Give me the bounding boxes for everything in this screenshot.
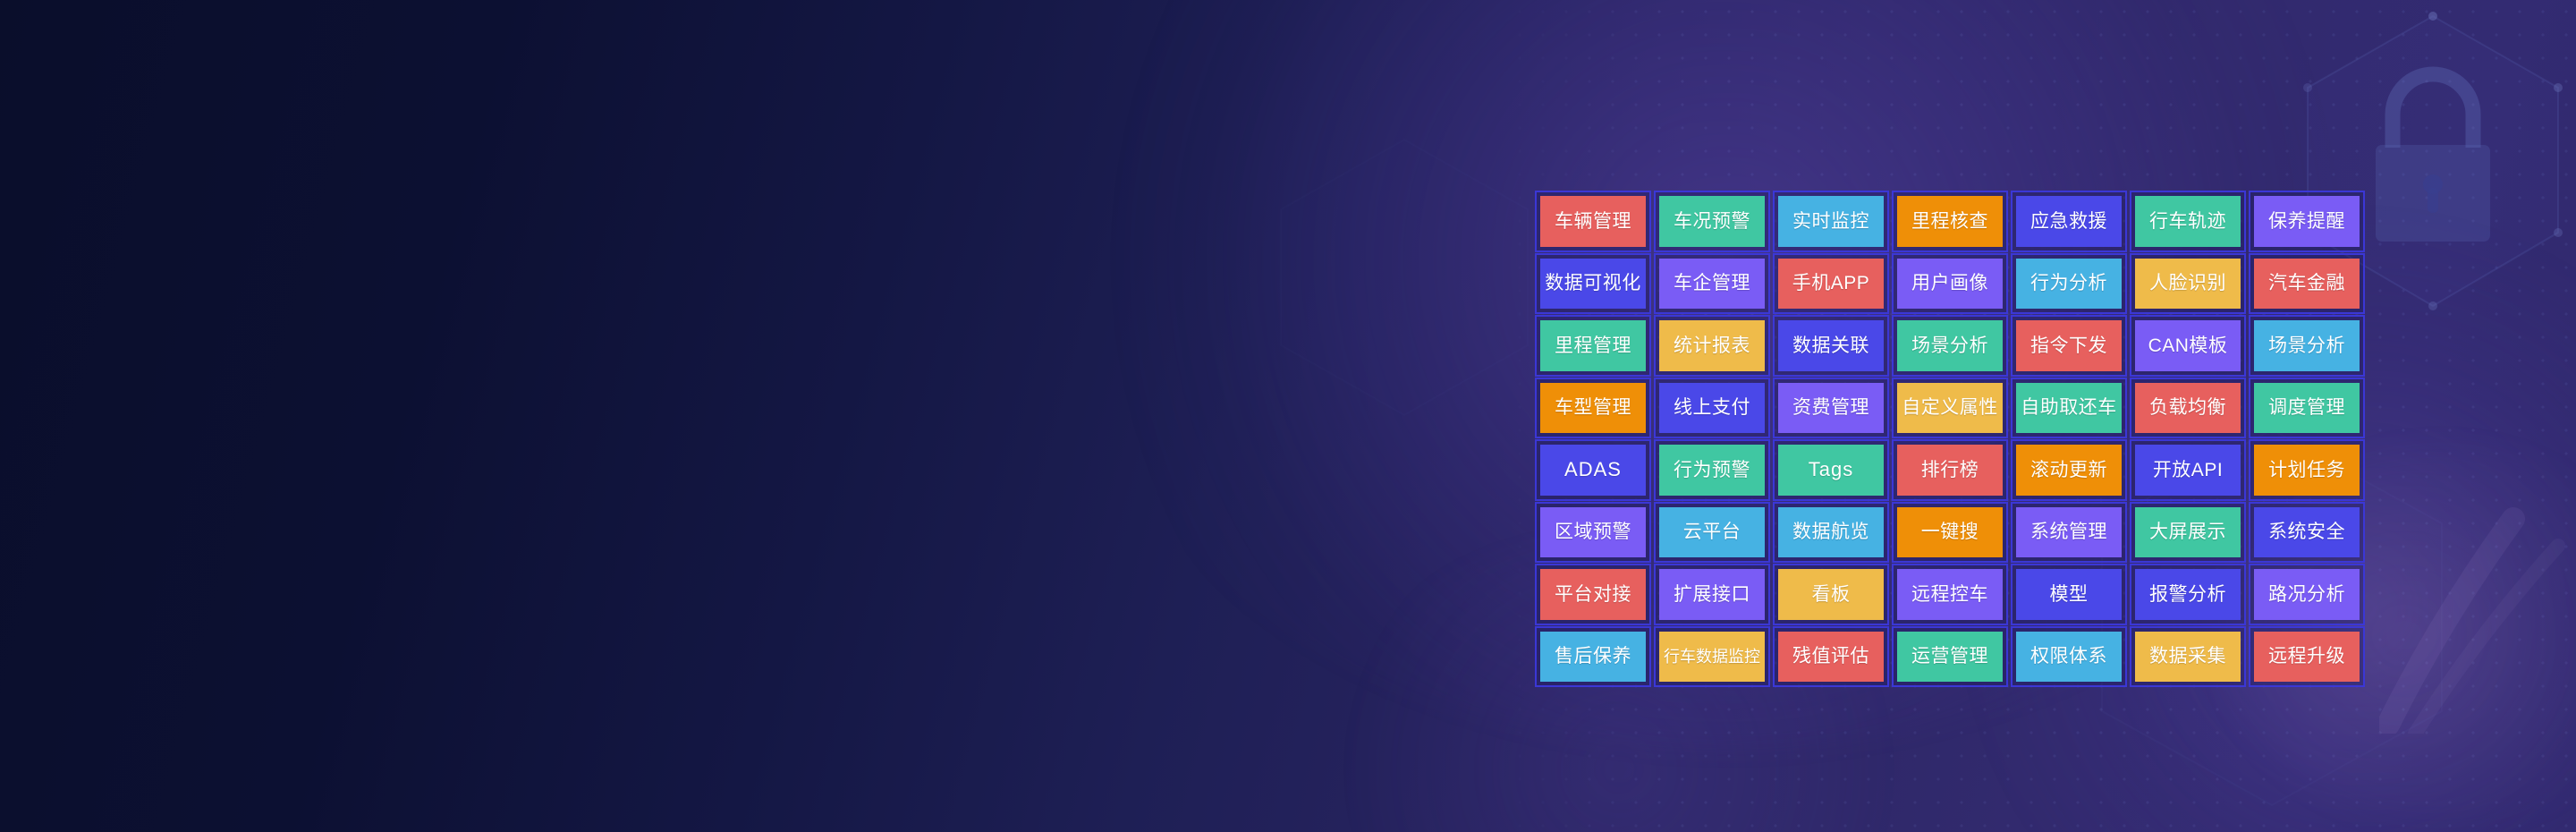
feature-tag-fill: 车型管理 [1540,383,1646,434]
feature-tag-label: 模型 [2050,585,2089,604]
feature-tag-label: 车型管理 [1555,398,1631,417]
feature-tag[interactable]: 车况预警 [1654,191,1770,252]
feature-tag[interactable]: 路况分析 [2249,564,2365,625]
feature-tag-fill: 实时监控 [1778,196,1884,247]
feature-tag[interactable]: 权限体系 [2011,626,2127,688]
feature-tag[interactable]: 排行榜 [1892,439,2008,501]
feature-tag-label: 排行榜 [1921,461,1979,480]
feature-tag-fill: 大屏展示 [2135,507,2241,558]
feature-tag-label: 车企管理 [1674,274,1750,293]
feature-tag[interactable]: 模型 [2011,564,2127,625]
feature-tag-label: 扩展接口 [1674,585,1750,604]
feature-tag-label: 平台对接 [1555,585,1631,604]
feature-tag[interactable]: 行车轨迹 [2130,191,2246,252]
feature-tag-fill: 售后保养 [1540,632,1646,683]
feature-tag-fill: 车企管理 [1659,259,1765,310]
feature-tag[interactable]: 车企管理 [1654,253,1770,315]
feature-tag-fill: CAN模板 [2135,320,2241,371]
feature-tag-label: 大屏展示 [2149,522,2226,541]
feature-tag[interactable]: 线上支付 [1654,378,1770,439]
feature-tag-label: 计划任务 [2268,461,2345,480]
feature-tag-label: 系统管理 [2030,522,2107,541]
feature-tag-label: 系统安全 [2268,522,2345,541]
feature-tag[interactable]: 计划任务 [2249,439,2365,501]
feature-tag[interactable]: 看板 [1773,564,1889,625]
feature-tag-fill: 数据关联 [1778,320,1884,371]
feature-tag[interactable]: 资费管理 [1773,378,1889,439]
feature-tag[interactable]: 行为预警 [1654,439,1770,501]
feature-tag-label: 人脸识别 [2149,274,2226,293]
feature-tag-fill: 指令下发 [2016,320,2122,371]
feature-tag-fill: 系统管理 [2016,507,2122,558]
feature-tag[interactable]: 系统管理 [2011,502,2127,564]
feature-tag-fill: 人脸识别 [2135,259,2241,310]
feature-tag-label: 数据航览 [1792,522,1869,541]
feature-tag[interactable]: 一键搜 [1892,502,2008,564]
feature-tag-label: 行车轨迹 [2149,212,2226,231]
feature-tag[interactable]: 指令下发 [2011,315,2127,377]
feature-tag[interactable]: 开放API [2130,439,2246,501]
feature-tag[interactable]: 扩展接口 [1654,564,1770,625]
feature-tag[interactable]: 人脸识别 [2130,253,2246,315]
feature-tag-label: 开放API [2153,461,2223,480]
feature-tag-label: 指令下发 [2030,336,2107,355]
feature-tag-fill: 应急救援 [2016,196,2122,247]
feature-tag-label: 实时监控 [1792,212,1869,231]
feature-tag[interactable]: 运营管理 [1892,626,2008,688]
feature-tag[interactable]: 售后保养 [1535,626,1651,688]
feature-tag-fill: Tags [1778,445,1884,496]
feature-tag-fill: 系统安全 [2254,507,2360,558]
feature-tag-label: 里程管理 [1555,336,1631,355]
feature-tag-grid: 车辆管理车况预警实时监控里程核查应急救援行车轨迹保养提醒数据可视化车企管理手机A… [1535,191,2365,687]
feature-tag[interactable]: 场景分析 [2249,315,2365,377]
feature-tag-label: 里程核查 [1911,212,1988,231]
feature-tag-label: 数据采集 [2149,647,2226,666]
feature-tag[interactable]: 车型管理 [1535,378,1651,439]
feature-tag[interactable]: 报警分析 [2130,564,2246,625]
feature-tag-fill: 区域预警 [1540,507,1646,558]
feature-tag[interactable]: 云平台 [1654,502,1770,564]
feature-tag-fill: 车辆管理 [1540,196,1646,247]
feature-tag[interactable]: 场景分析 [1892,315,2008,377]
feature-tag[interactable]: 保养提醒 [2249,191,2365,252]
feature-tag[interactable]: 行车数据监控 [1654,626,1770,688]
feature-tag-label: 远程升级 [2268,647,2345,666]
feature-tag-fill: 行车轨迹 [2135,196,2241,247]
feature-tag-fill: 数据航览 [1778,507,1884,558]
feature-tag-fill: 扩展接口 [1659,569,1765,620]
feature-tag[interactable]: 汽车金融 [2249,253,2365,315]
feature-tag-label: Tags [1809,460,1853,480]
feature-tag-fill: 运营管理 [1897,632,2003,683]
feature-tag[interactable]: 滚动更新 [2011,439,2127,501]
feature-tag[interactable]: 应急救援 [2011,191,2127,252]
feature-tag-fill: 用户画像 [1897,259,2003,310]
feature-tag-label: 行为分析 [2030,274,2107,293]
feature-tag-fill: ADAS [1540,445,1646,496]
feature-tag[interactable]: 平台对接 [1535,564,1651,625]
feature-tag-label: 场景分析 [1911,336,1988,355]
feature-tag-label: 一键搜 [1921,522,1979,541]
feature-tag-label: ADAS [1564,460,1622,480]
feature-tag-label: 资费管理 [1792,398,1869,417]
feature-tag[interactable]: 里程核查 [1892,191,2008,252]
feature-tag-fill: 远程控车 [1897,569,2003,620]
feature-tag-fill: 排行榜 [1897,445,2003,496]
feature-tag-label: 自定义属性 [1902,398,1998,417]
feature-tag-fill: 数据采集 [2135,632,2241,683]
feature-tag[interactable]: 远程升级 [2249,626,2365,688]
background-stage: 车辆管理车况预警实时监控里程核查应急救援行车轨迹保养提醒数据可视化车企管理手机A… [0,0,2576,832]
feature-tag-fill: 残值评估 [1778,632,1884,683]
feature-tag[interactable]: 实时监控 [1773,191,1889,252]
feature-tag-fill: 权限体系 [2016,632,2122,683]
feature-tag[interactable]: 里程管理 [1535,315,1651,377]
feature-tag[interactable]: 远程控车 [1892,564,2008,625]
feature-tag-label: 权限体系 [2030,647,2107,666]
feature-tag-fill: 数据可视化 [1540,259,1646,310]
feature-tag-fill: 里程核查 [1897,196,2003,247]
feature-tag[interactable]: 手机APP [1773,253,1889,315]
feature-tag[interactable]: ADAS [1535,439,1651,501]
hexagon-outline-icon [1270,134,1538,420]
feature-tag-label: 汽车金融 [2268,274,2345,293]
feature-tag-label: 行车数据监控 [1664,649,1760,665]
feature-tag-label: 手机APP [1792,274,1870,293]
feature-tag-fill: 保养提醒 [2254,196,2360,247]
feature-tag[interactable]: 数据采集 [2130,626,2246,688]
feature-tag[interactable]: 大屏展示 [2130,502,2246,564]
feature-tag-label: 报警分析 [2149,585,2226,604]
feature-tag-fill: 看板 [1778,569,1884,620]
feature-tag-fill: 手机APP [1778,259,1884,310]
feature-tag-fill: 车况预警 [1659,196,1765,247]
feature-tag-label: 负载均衡 [2149,398,2226,417]
feature-tag-label: 售后保养 [1555,647,1631,666]
feature-tag-fill: 调度管理 [2254,383,2360,434]
feature-tag-fill: 自定义属性 [1897,383,2003,434]
feature-tag[interactable]: 负载均衡 [2130,378,2246,439]
feature-tag-fill: 场景分析 [2254,320,2360,371]
feature-tag[interactable]: 系统安全 [2249,502,2365,564]
feature-tag-label: 区域预警 [1555,522,1631,541]
feature-tag-label: 残值评估 [1792,647,1869,666]
feature-tag-fill: 模型 [2016,569,2122,620]
feature-tag-fill: 报警分析 [2135,569,2241,620]
feature-tag-label: 场景分析 [2268,336,2345,355]
feature-tag-fill: 计划任务 [2254,445,2360,496]
feature-tag[interactable]: 数据可视化 [1535,253,1651,315]
feature-tag-fill: 资费管理 [1778,383,1884,434]
feature-tag-fill: 一键搜 [1897,507,2003,558]
feature-tag[interactable]: 行为分析 [2011,253,2127,315]
feature-tag-label: 车况预警 [1674,212,1750,231]
feature-tag-fill: 行为预警 [1659,445,1765,496]
feature-tag[interactable]: 用户画像 [1892,253,2008,315]
feature-tag-fill: 汽车金融 [2254,259,2360,310]
feature-tag-fill: 行为分析 [2016,259,2122,310]
feature-tag-label: 数据可视化 [1545,274,1641,293]
feature-tag-label: 远程控车 [1911,585,1988,604]
feature-tag-label: 运营管理 [1911,647,1988,666]
feature-tag-label: 应急救援 [2030,212,2107,231]
feature-tag-fill: 平台对接 [1540,569,1646,620]
feature-tag-fill: 滚动更新 [2016,445,2122,496]
feature-tag-fill: 开放API [2135,445,2241,496]
feature-tag[interactable]: Tags [1773,439,1889,501]
feature-tag[interactable]: 车辆管理 [1535,191,1651,252]
feature-tag-label: 行为预警 [1674,461,1750,480]
feature-tag[interactable]: 残值评估 [1773,626,1889,688]
feature-tag-fill: 统计报表 [1659,320,1765,371]
feature-tag[interactable]: 统计报表 [1654,315,1770,377]
feature-tag-label: 统计报表 [1674,336,1750,355]
light-streak-icon [2379,465,2576,734]
feature-tag-label: 用户画像 [1911,274,1988,293]
feature-tag-label: 车辆管理 [1555,212,1631,231]
feature-tag-fill: 线上支付 [1659,383,1765,434]
feature-tag-fill: 自助取还车 [2016,383,2122,434]
feature-tag-label: 自助取还车 [2021,398,2117,417]
feature-tag-label: 看板 [1812,585,1851,604]
feature-tag-fill: 负载均衡 [2135,383,2241,434]
feature-tag-label: 滚动更新 [2030,461,2107,480]
feature-tag-fill: 路况分析 [2254,569,2360,620]
feature-tag-label: 调度管理 [2268,398,2345,417]
feature-tag-label: 保养提醒 [2268,212,2345,231]
feature-tag-label: 线上支付 [1674,398,1750,417]
feature-tag-fill: 行车数据监控 [1659,632,1765,683]
feature-tag-fill: 远程升级 [2254,632,2360,683]
feature-tag[interactable]: 数据航览 [1773,502,1889,564]
feature-tag-fill: 里程管理 [1540,320,1646,371]
feature-tag[interactable]: 自助取还车 [2011,378,2127,439]
feature-tag-label: 云平台 [1683,522,1741,541]
feature-tag[interactable]: CAN模板 [2130,315,2246,377]
feature-tag[interactable]: 自定义属性 [1892,378,2008,439]
feature-tag[interactable]: 区域预警 [1535,502,1651,564]
feature-tag[interactable]: 调度管理 [2249,378,2365,439]
feature-tag-fill: 场景分析 [1897,320,2003,371]
feature-tag-label: CAN模板 [2148,336,2228,355]
feature-tag-fill: 云平台 [1659,507,1765,558]
feature-tag-label: 路况分析 [2268,585,2345,604]
feature-tag-label: 数据关联 [1792,336,1869,355]
feature-tag[interactable]: 数据关联 [1773,315,1889,377]
